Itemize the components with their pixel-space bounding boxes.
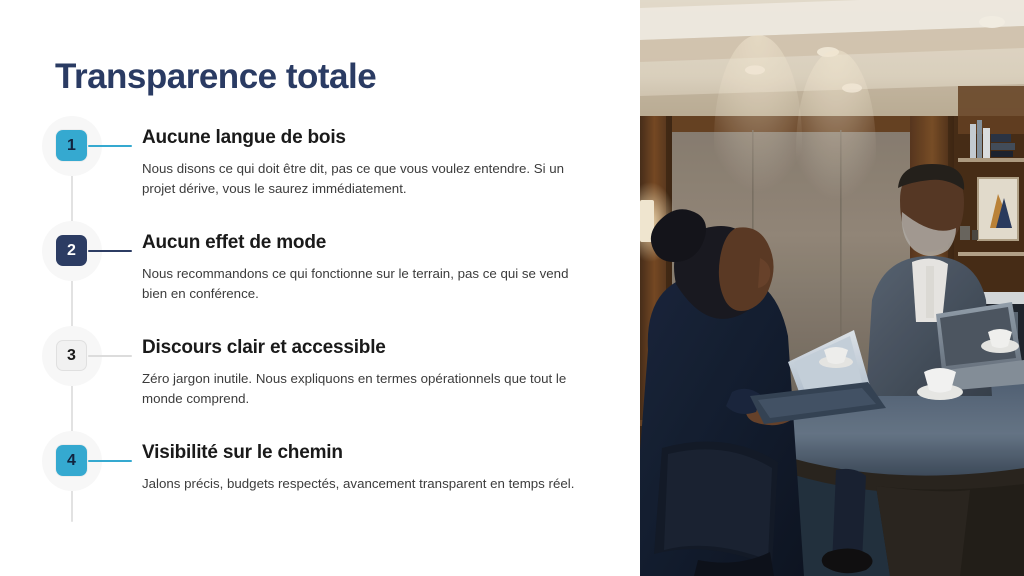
step-title-1: Aucune langue de bois [142,126,592,150]
step-body-3: Discours clair et accessible Zéro jargon… [142,336,592,410]
step-title-4: Visibilité sur le chemin [142,441,592,465]
step-item-1: 1 Aucune langue de bois Nous disons ce q… [0,126,640,231]
step-description-1: Nous disons ce qui doit être dit, pas ce… [142,159,578,200]
step-connector-2 [88,250,132,252]
content-panel: Transparence totale 1 Aucune langue de b… [0,0,640,576]
step-connector-4 [88,460,132,462]
step-item-3: 3 Discours clair et accessible Zéro jarg… [0,336,640,441]
step-number-badge-4: 4 [56,445,87,476]
steps-list: 1 Aucune langue de bois Nous disons ce q… [0,126,640,546]
slide-root: Transparence totale 1 Aucune langue de b… [0,0,1024,576]
step-title-2: Aucun effet de mode [142,231,592,255]
page-title: Transparence totale [55,57,376,97]
step-description-3: Zéro jargon inutile. Nous expliquons en … [142,369,578,410]
step-connector-3 [88,355,132,357]
step-title-3: Discours clair et accessible [142,336,592,360]
step-number-badge-2: 2 [56,235,87,266]
step-connector-1 [88,145,132,147]
step-body-1: Aucune langue de bois Nous disons ce qui… [142,126,592,200]
step-description-4: Jalons précis, budgets respectés, avance… [142,474,578,495]
step-body-4: Visibilité sur le chemin Jalons précis, … [142,441,592,494]
step-description-2: Nous recommandons ce qui fonctionne sur … [142,264,578,305]
step-number-badge-3: 3 [56,340,87,371]
step-item-4: 4 Visibilité sur le chemin Jalons précis… [0,441,640,546]
step-item-2: 2 Aucun effet de mode Nous recommandons … [0,231,640,336]
photo-illustration [640,0,1024,576]
step-body-2: Aucun effet de mode Nous recommandons ce… [142,231,592,305]
boardroom-meeting-photo [640,0,1024,576]
step-number-badge-1: 1 [56,130,87,161]
